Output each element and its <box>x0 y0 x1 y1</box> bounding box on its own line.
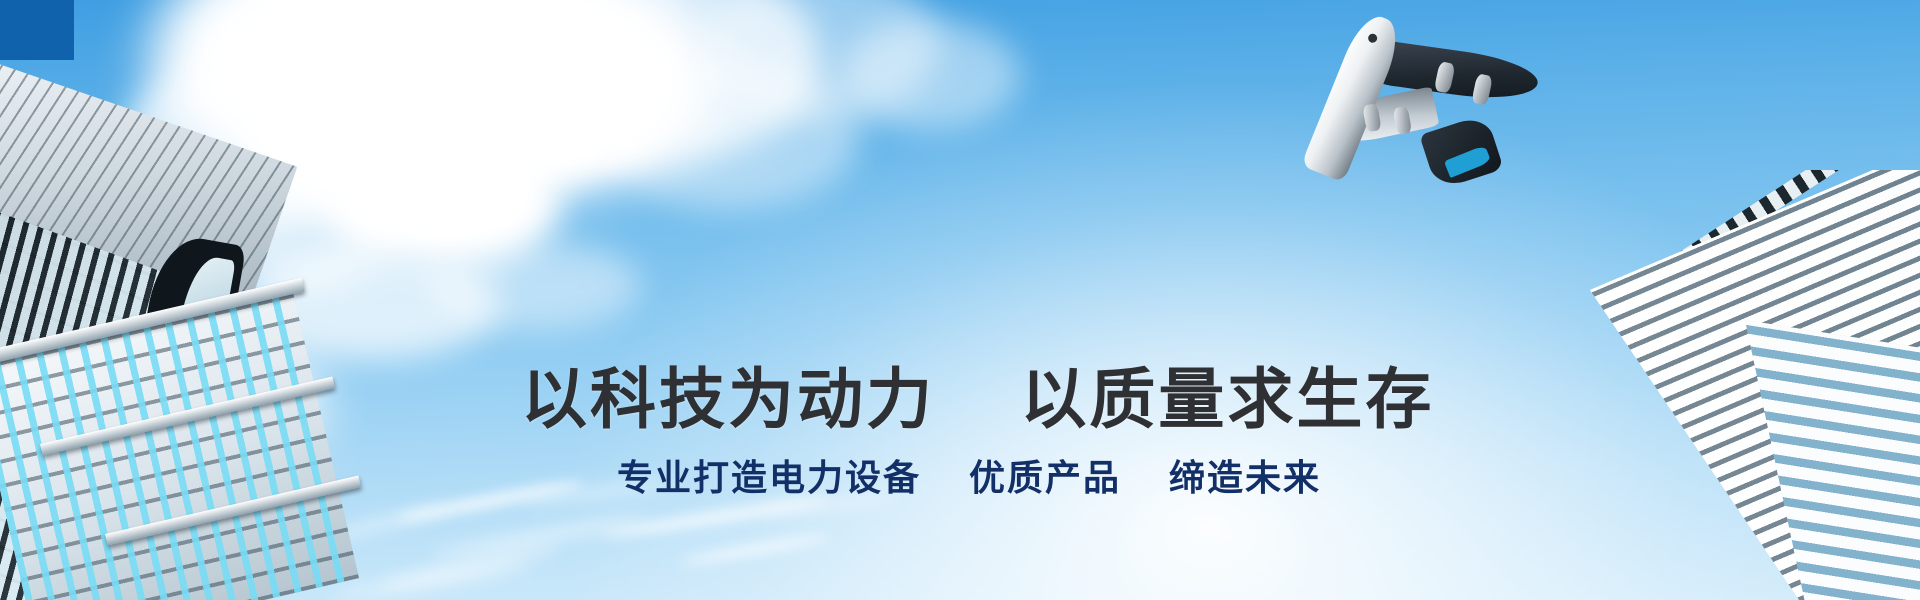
jet-airliner <box>1326 0 1555 205</box>
hero-banner: 以科技为动力 以质量求生存 专业打造电力设备 优质产品 缔造未来 <box>0 0 1920 600</box>
banner-headline-text: 以科技为动力 以质量求生存 <box>521 366 1434 432</box>
banner-subline: 专业打造电力设备 优质产品 缔造未来 <box>0 424 1920 532</box>
banner-subline-text: 专业打造电力设备 优质产品 缔造未来 <box>617 460 1321 496</box>
